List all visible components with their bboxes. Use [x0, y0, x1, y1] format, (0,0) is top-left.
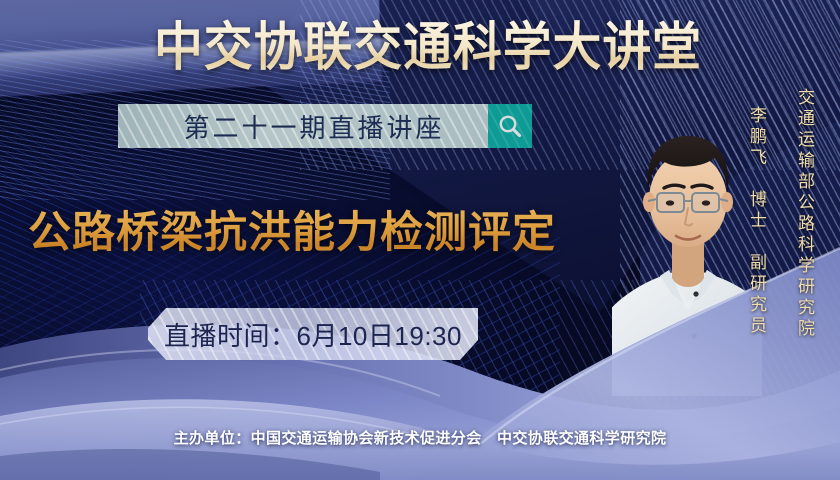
subtitle-bar: 第二十一期直播讲座 — [118, 104, 488, 148]
organizer-footer: 主办单位：中国交通运输协会新技术促进分会 中交协联交通科学研究院 — [0, 424, 840, 450]
subtitle-text: 第二十一期直播讲座 — [118, 104, 488, 148]
live-time-badge: 直播时间：6月10日19:30 — [148, 308, 478, 360]
speaker-name-title: 李鹏飞 博士 副研究员 — [744, 106, 769, 337]
live-time-text: 直播时间：6月10日19:30 — [148, 308, 478, 360]
speaker-organization: 交通运输部公路科学研究院 — [792, 88, 817, 340]
page-title: 中交协联交通科学大讲堂 — [146, 16, 710, 80]
poster-canvas: 中交协联交通科学大讲堂 第二十一期直播讲座 公路桥梁抗洪能力检测评定 直播时间：… — [0, 0, 840, 480]
lecture-headline: 公路桥梁抗洪能力检测评定 — [28, 202, 628, 264]
search-icon[interactable] — [488, 104, 532, 148]
